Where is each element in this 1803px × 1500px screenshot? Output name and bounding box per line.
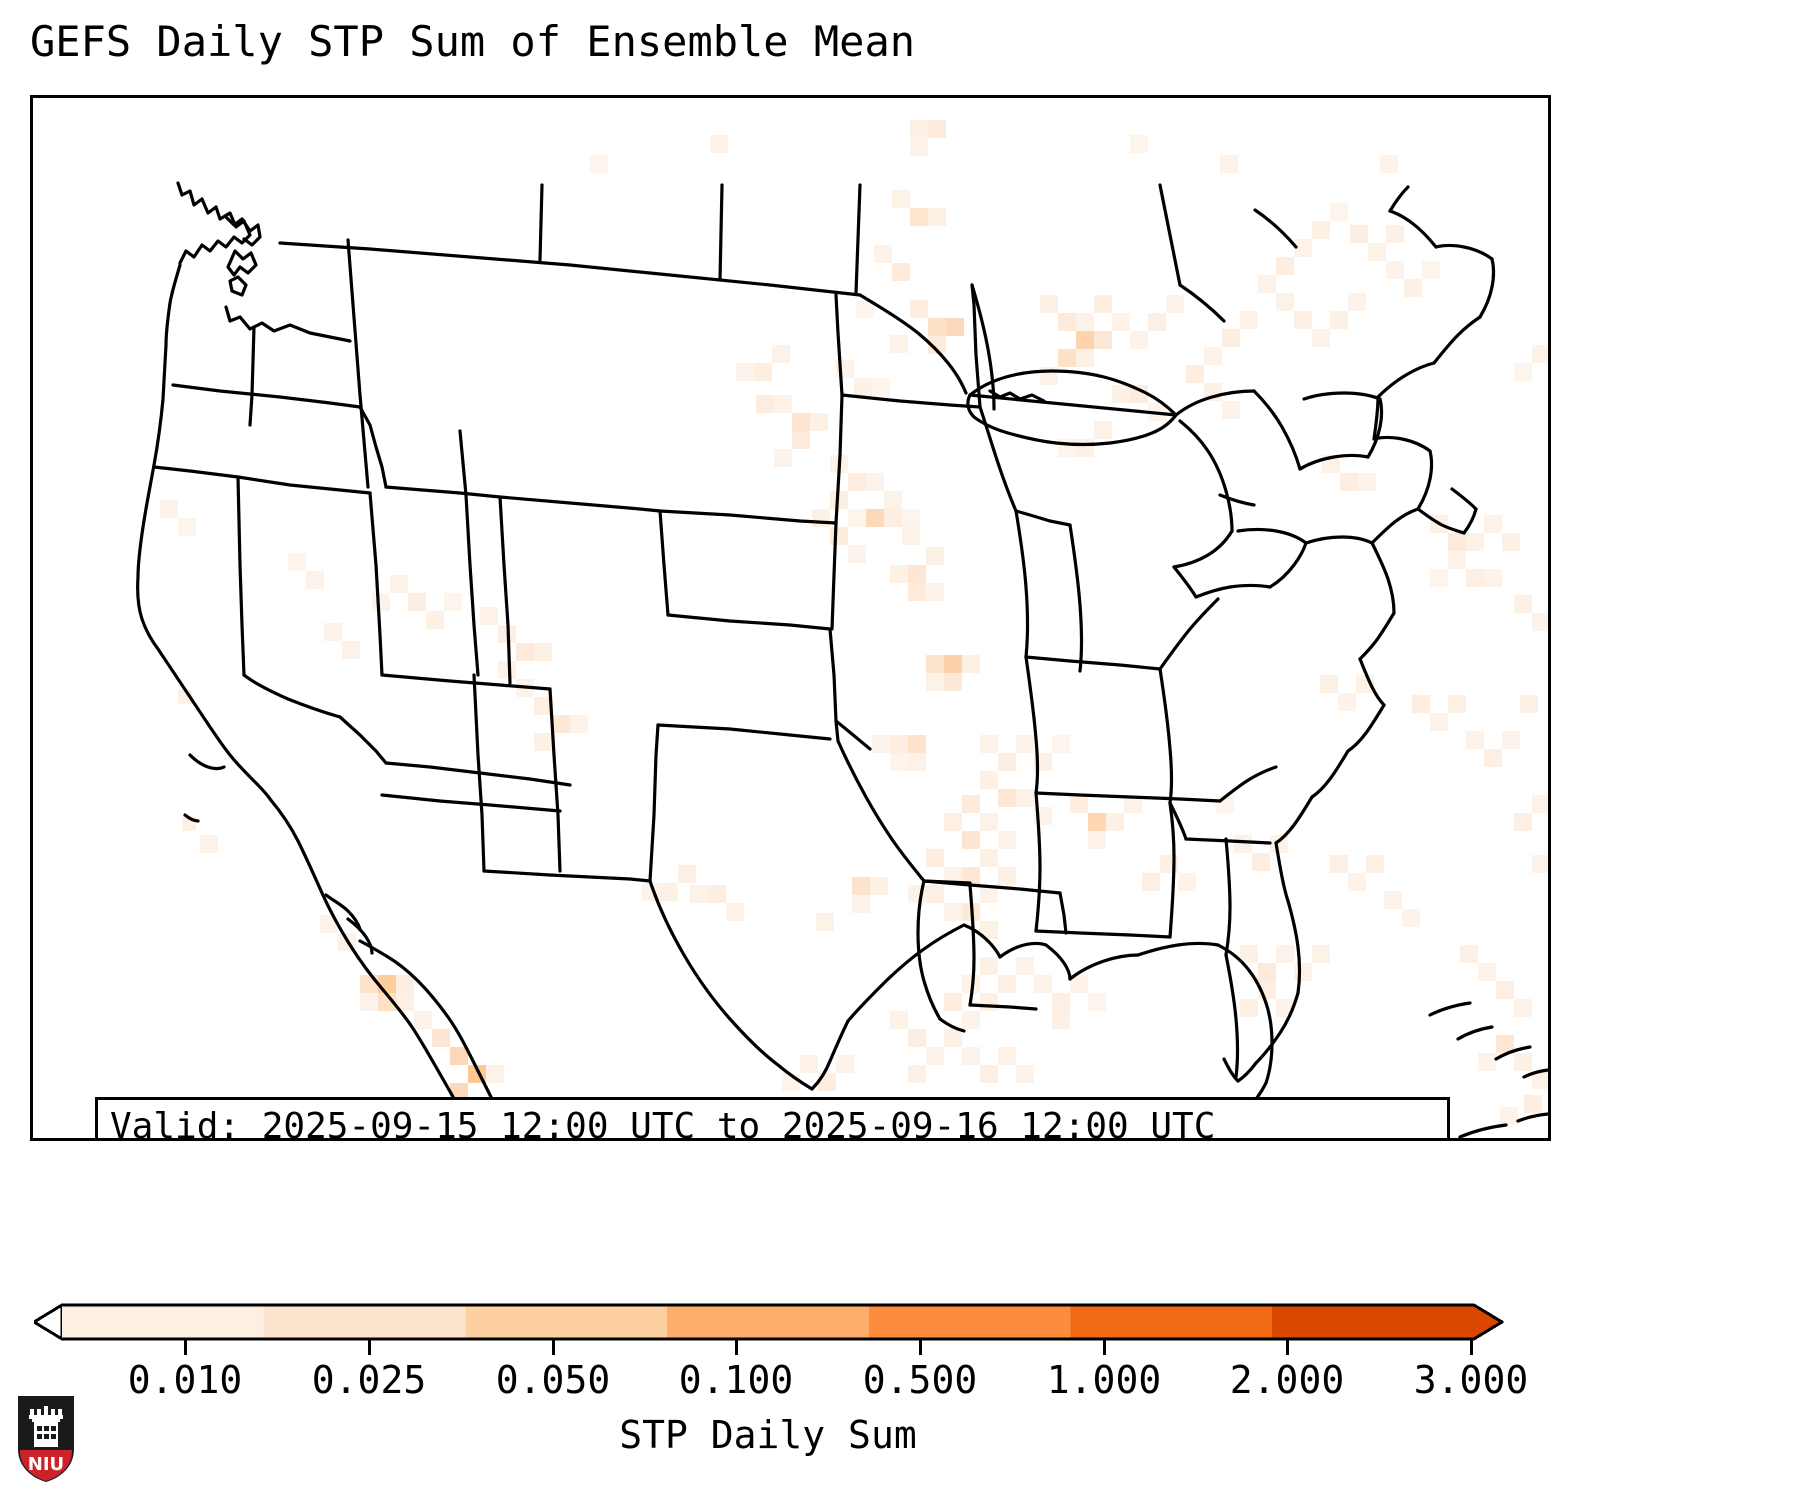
niu-shield-icon: NIU	[14, 1393, 78, 1485]
colorbar-tick-label-5: 1.000	[1047, 1357, 1161, 1403]
map-axes[interactable]: Valid: 2025-09-15 12:00 UTC to 2025-09-1…	[30, 95, 1551, 1141]
colorbar-tick-0	[184, 1339, 187, 1355]
niu-logo: NIU	[14, 1393, 78, 1485]
niu-logo-text: NIU	[28, 1454, 64, 1475]
colorbar-tick-1	[368, 1339, 371, 1355]
map-plot	[30, 95, 1551, 1141]
valid-time-text: Valid: 2025-09-15 12:00 UTC to 2025-09-1…	[110, 1105, 1215, 1141]
colorbar-tick-3	[735, 1339, 738, 1355]
colorbar-tick-6	[1286, 1339, 1289, 1355]
colorbar-tick-4	[919, 1339, 922, 1355]
info-textbox: Valid: 2025-09-15 12:00 UTC to 2025-09-1…	[95, 1097, 1450, 1141]
colorbar-tick-label-7: 3.000	[1414, 1357, 1528, 1403]
page-title: GEFS Daily STP Sum of Ensemble Mean	[30, 16, 915, 68]
colorbar-tick-label-4: 0.500	[863, 1357, 977, 1403]
colorbar[interactable]: 0.010 0.025 0.050 0.100 0.500 1.000 2.00…	[62, 1305, 1474, 1339]
colorbar-tick-7	[1470, 1339, 1473, 1355]
colorbar-under-arrow	[34, 1305, 62, 1339]
colorbar-tick-5	[1103, 1339, 1106, 1355]
figure-canvas: GEFS Daily STP Sum of Ensemble Mean	[0, 0, 1803, 1500]
colorbar-tick-label-0: 0.010	[128, 1357, 242, 1403]
colorbar-axis-label: STP Daily Sum	[62, 1412, 1474, 1458]
colorbar-tick-label-2: 0.050	[496, 1357, 610, 1403]
colorbar-tick-label-6: 2.000	[1230, 1357, 1344, 1403]
colorbar-tick-label-1: 0.025	[312, 1357, 426, 1403]
colorbar-gradient	[34, 1301, 1506, 1343]
colorbar-tick-label-3: 0.100	[679, 1357, 793, 1403]
colorbar-tick-2	[552, 1339, 555, 1355]
data-grid-layer	[160, 120, 1550, 1137]
